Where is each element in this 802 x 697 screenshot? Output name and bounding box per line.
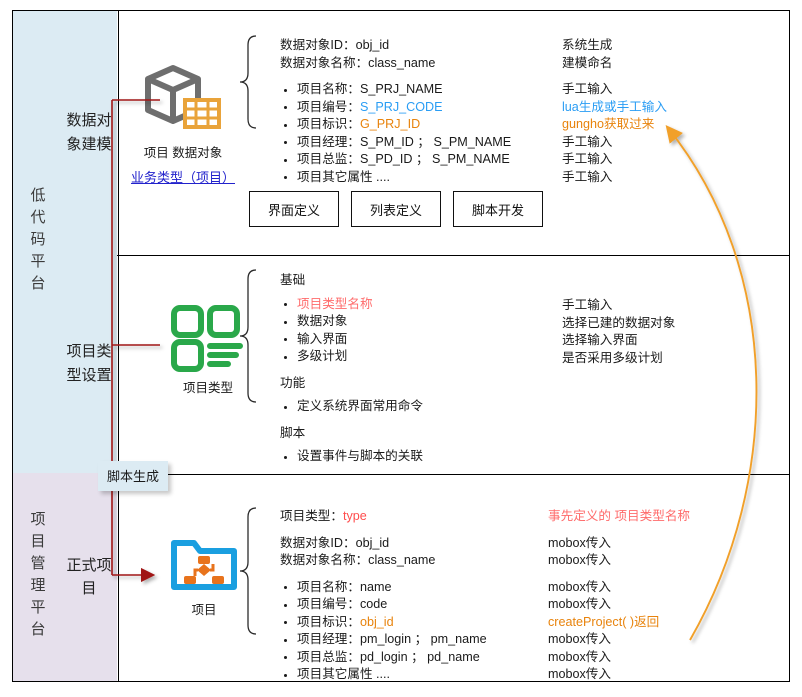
module-label-data-modeling: 数据对象建模 xyxy=(67,109,112,156)
spacer xyxy=(548,526,690,535)
note-line: 手工输入 xyxy=(562,134,667,152)
group-bullet: 项目类型名称 xyxy=(280,296,423,314)
attribute-bullet: 项目名称：name xyxy=(280,579,487,597)
note-line: 是否采用多级计划 xyxy=(562,350,675,368)
box-interface-definition-label: 界面定义 xyxy=(268,200,320,219)
group-bullet: 定义系统界面常用命令 xyxy=(280,398,423,416)
attribute-bullet: 项目其它属性 .... xyxy=(280,666,487,684)
note-line: gungho获取过来 xyxy=(562,116,667,134)
box-list-definition-label: 列表定义 xyxy=(370,200,422,219)
group-title: 基础 xyxy=(280,272,423,290)
section3-attribute-list: 项目类型：type数据对象ID：obj_id数据对象名称：class_name项… xyxy=(280,508,487,684)
section1-icon-block: 项目 数据对象 业务类型（项目） xyxy=(118,62,248,186)
group-title: 功能 xyxy=(280,375,423,393)
note-line: 选择输入界面 xyxy=(562,332,675,350)
project-folder-icon xyxy=(168,533,240,595)
callout-script-generation-label: 脚本生成 xyxy=(107,469,159,484)
note-line: 事先定义的 项目类型名称 xyxy=(548,508,690,526)
bullet-value: obj_id xyxy=(360,615,394,629)
box-script-development-label: 脚本开发 xyxy=(472,200,524,219)
group-bullet: 多级计划 xyxy=(280,348,423,366)
bullet-value: name xyxy=(360,580,392,594)
group-bullet: 输入界面 xyxy=(280,331,423,349)
attribute-bullet: 项目名称：S_PRJ_NAME xyxy=(280,81,511,99)
spacer xyxy=(280,72,511,81)
section2-group-list: 基础项目类型名称数据对象输入界面多级计划功能定义系统界面常用命令脚本设置事件与脚… xyxy=(280,272,423,466)
box-list-definition[interactable]: 列表定义 xyxy=(351,191,441,227)
section3-note-list: 事先定义的 项目类型名称mobox传入mobox传入mobox传入mobox传入… xyxy=(548,508,690,684)
attribute-bullet: 项目经理：pm_login ； pm_name xyxy=(280,631,487,649)
section1-note-list: 系统生成建模命名手工输入lua生成或手工输入gungho获取过来手工输入手工输入… xyxy=(562,37,667,186)
bullet-label: 输入界面 xyxy=(297,332,347,346)
note-line: createProject( )返回 xyxy=(548,614,690,632)
note-line: mobox传入 xyxy=(548,552,690,570)
spacer xyxy=(280,570,487,579)
diagram-canvas: 低代码平台 项目管理平台 数据对象建模 项目类型设置 正式项目 项目 数据对象 … xyxy=(0,0,802,697)
bullet-label: 项目总监： xyxy=(297,650,360,664)
row-rule-1 xyxy=(13,255,789,256)
section3-icon-caption: 项目 xyxy=(150,599,258,618)
note-line: mobox传入 xyxy=(548,535,690,553)
attribute-bullet: 项目其它属性 .... xyxy=(280,169,511,187)
attribute-bullet: 项目经理：S_PM_ID ； S_PM_NAME xyxy=(280,134,511,152)
note-line: 手工输入 xyxy=(562,297,675,315)
bullet-value: S_PRJ_NAME xyxy=(360,82,443,96)
attribute-bullet: 项目总监：pd_login ； pd_name xyxy=(280,649,487,667)
section1-icon-sublink[interactable]: 业务类型（项目） xyxy=(118,167,248,186)
spacer xyxy=(280,526,487,535)
section2-icon-caption: 项目类型 xyxy=(148,377,268,396)
spacer xyxy=(280,366,423,375)
bullet-label: 项目经理： xyxy=(297,632,360,646)
note-line: 选择已建的数据对象 xyxy=(562,315,675,333)
note-line: 手工输入 xyxy=(562,151,667,169)
group-bullet: 数据对象 xyxy=(280,313,423,331)
note-line: mobox传入 xyxy=(548,666,690,684)
module-label-formal-project: 正式项目 xyxy=(67,554,112,601)
header-line: 数据对象名称：class_name xyxy=(280,552,487,570)
module-cell-project-type: 项目类型设置 xyxy=(61,254,117,473)
bullet-label: 设置事件与脚本的关联 xyxy=(297,449,423,463)
platform-cell-low-code: 低代码平台 xyxy=(13,11,61,473)
bullet-label: 项目类型： xyxy=(280,509,343,523)
bullet-value: S_PD_ID ； S_PM_NAME xyxy=(360,152,510,166)
attribute-bullet: 项目编号：S_PRJ_CODE xyxy=(280,99,511,117)
bullet-label: 项目其它属性 .... xyxy=(297,667,390,681)
bullet-label: 项目编号： xyxy=(297,597,360,611)
platform-label-project-mgmt: 项目管理平台 xyxy=(30,511,45,643)
note-line: mobox传入 xyxy=(548,649,690,667)
bullet-label: 项目经理： xyxy=(297,135,360,149)
attribute-bullet: 项目编号：code xyxy=(280,596,487,614)
bullet-label: 项目编号： xyxy=(297,100,360,114)
bullet-label: 项目名称： xyxy=(297,580,360,594)
platform-label-low-code: 低代码平台 xyxy=(30,187,45,297)
section2-note-list: 手工输入选择已建的数据对象选择输入界面是否采用多级计划 xyxy=(562,297,675,367)
note-line: 手工输入 xyxy=(562,169,667,187)
header-line: 数据对象名称：class_name xyxy=(280,55,511,73)
note-line: mobox传入 xyxy=(548,631,690,649)
group-title: 脚本 xyxy=(280,425,423,443)
bullet-label: 项目标识： xyxy=(297,615,360,629)
section1-icon-caption: 项目 数据对象 xyxy=(118,142,248,161)
bullet-value: pd_login ； pd_name xyxy=(360,650,480,664)
project-type-line: 项目类型：type xyxy=(280,508,487,526)
note-line: lua生成或手工输入 xyxy=(562,99,667,117)
bullet-label: 项目类型名称 xyxy=(297,297,373,311)
attribute-bullet: 项目标识：G_PRJ_ID xyxy=(280,116,511,134)
section2-icon-block: 项目类型 xyxy=(148,303,268,396)
note-line: 手工输入 xyxy=(562,81,667,99)
bullet-label: 定义系统界面常用命令 xyxy=(297,399,423,413)
platform-cell-project-mgmt: 项目管理平台 xyxy=(13,473,61,681)
header-line: 数据对象ID：obj_id xyxy=(280,535,487,553)
spacer xyxy=(280,416,423,425)
note-line: mobox传入 xyxy=(548,596,690,614)
bullet-label: 项目标识： xyxy=(297,117,360,131)
bullet-label: 项目名称： xyxy=(297,82,360,96)
callout-script-generation[interactable]: 脚本生成 xyxy=(98,461,168,491)
module-cell-data-modeling: 数据对象建模 xyxy=(61,11,117,254)
bullet-value: S_PRJ_CODE xyxy=(360,100,443,114)
project-type-grid-icon xyxy=(168,303,248,373)
module-cell-formal-project: 正式项目 xyxy=(61,473,117,681)
bullet-label: 多级计划 xyxy=(297,349,347,363)
group-bullet: 设置事件与脚本的关联 xyxy=(280,448,423,466)
box-interface-definition[interactable]: 界面定义 xyxy=(249,191,339,227)
module-label-project-type: 项目类型设置 xyxy=(67,340,112,387)
bullet-value: S_PM_ID ； S_PM_NAME xyxy=(360,135,511,149)
box-script-development[interactable]: 脚本开发 xyxy=(453,191,543,227)
note-line: 系统生成 xyxy=(562,37,667,55)
attribute-bullet: 项目总监：S_PD_ID ； S_PM_NAME xyxy=(280,151,511,169)
bullet-value: pm_login ； pm_name xyxy=(360,632,487,646)
bullet-value: G_PRJ_ID xyxy=(360,117,420,131)
spacer xyxy=(548,570,690,579)
attribute-bullet: 项目标识：obj_id xyxy=(280,614,487,632)
data-object-cube-icon xyxy=(140,62,226,138)
section3-icon-block: 项目 xyxy=(150,533,258,618)
bullet-label: 项目其它属性 .... xyxy=(297,170,390,184)
bullet-label: 项目总监： xyxy=(297,152,360,166)
bullet-label: 数据对象 xyxy=(297,314,347,328)
note-line: mobox传入 xyxy=(548,579,690,597)
bullet-value: code xyxy=(360,597,387,611)
note-line: 建模命名 xyxy=(562,55,667,73)
header-line: 数据对象ID：obj_id xyxy=(280,37,511,55)
bullet-value: type xyxy=(343,509,367,523)
spacer xyxy=(562,72,667,81)
section1-attribute-list: 数据对象ID：obj_id数据对象名称：class_name项目名称：S_PRJ… xyxy=(280,37,511,186)
